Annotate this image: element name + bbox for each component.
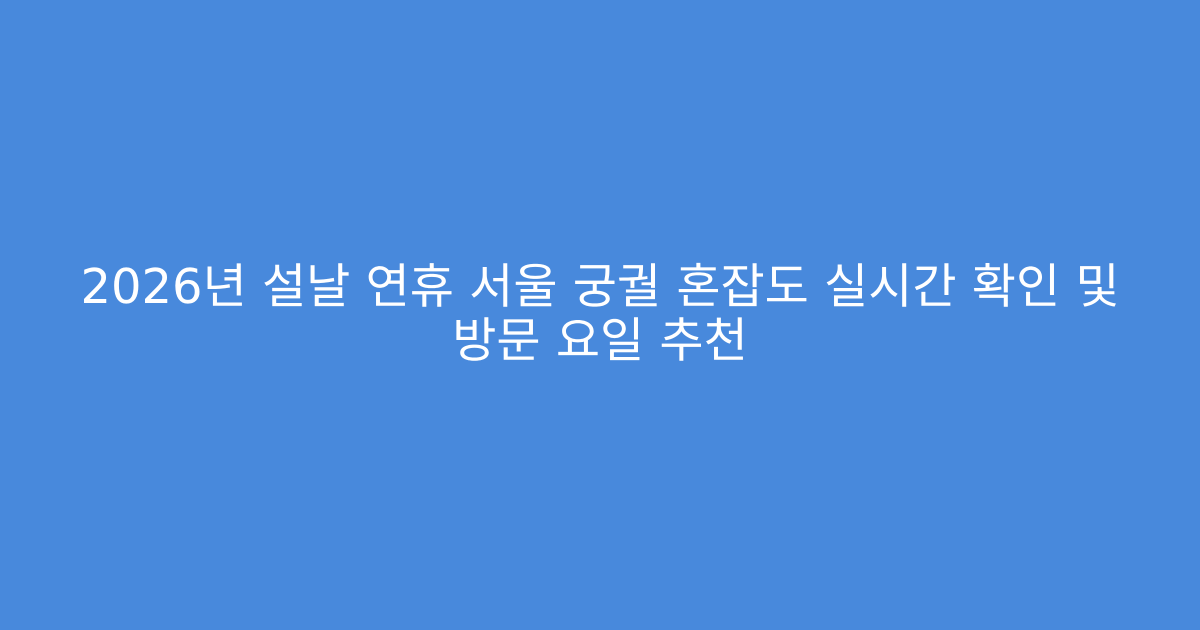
page-title: 2026년 설날 연휴 서울 궁궐 혼잡도 실시간 확인 및 방문 요일 추천: [80, 261, 1120, 369]
thumbnail-card: 2026년 설날 연휴 서울 궁궐 혼잡도 실시간 확인 및 방문 요일 추천: [0, 0, 1200, 630]
headline-block: 2026년 설날 연휴 서울 궁궐 혼잡도 실시간 확인 및 방문 요일 추천: [50, 261, 1150, 369]
